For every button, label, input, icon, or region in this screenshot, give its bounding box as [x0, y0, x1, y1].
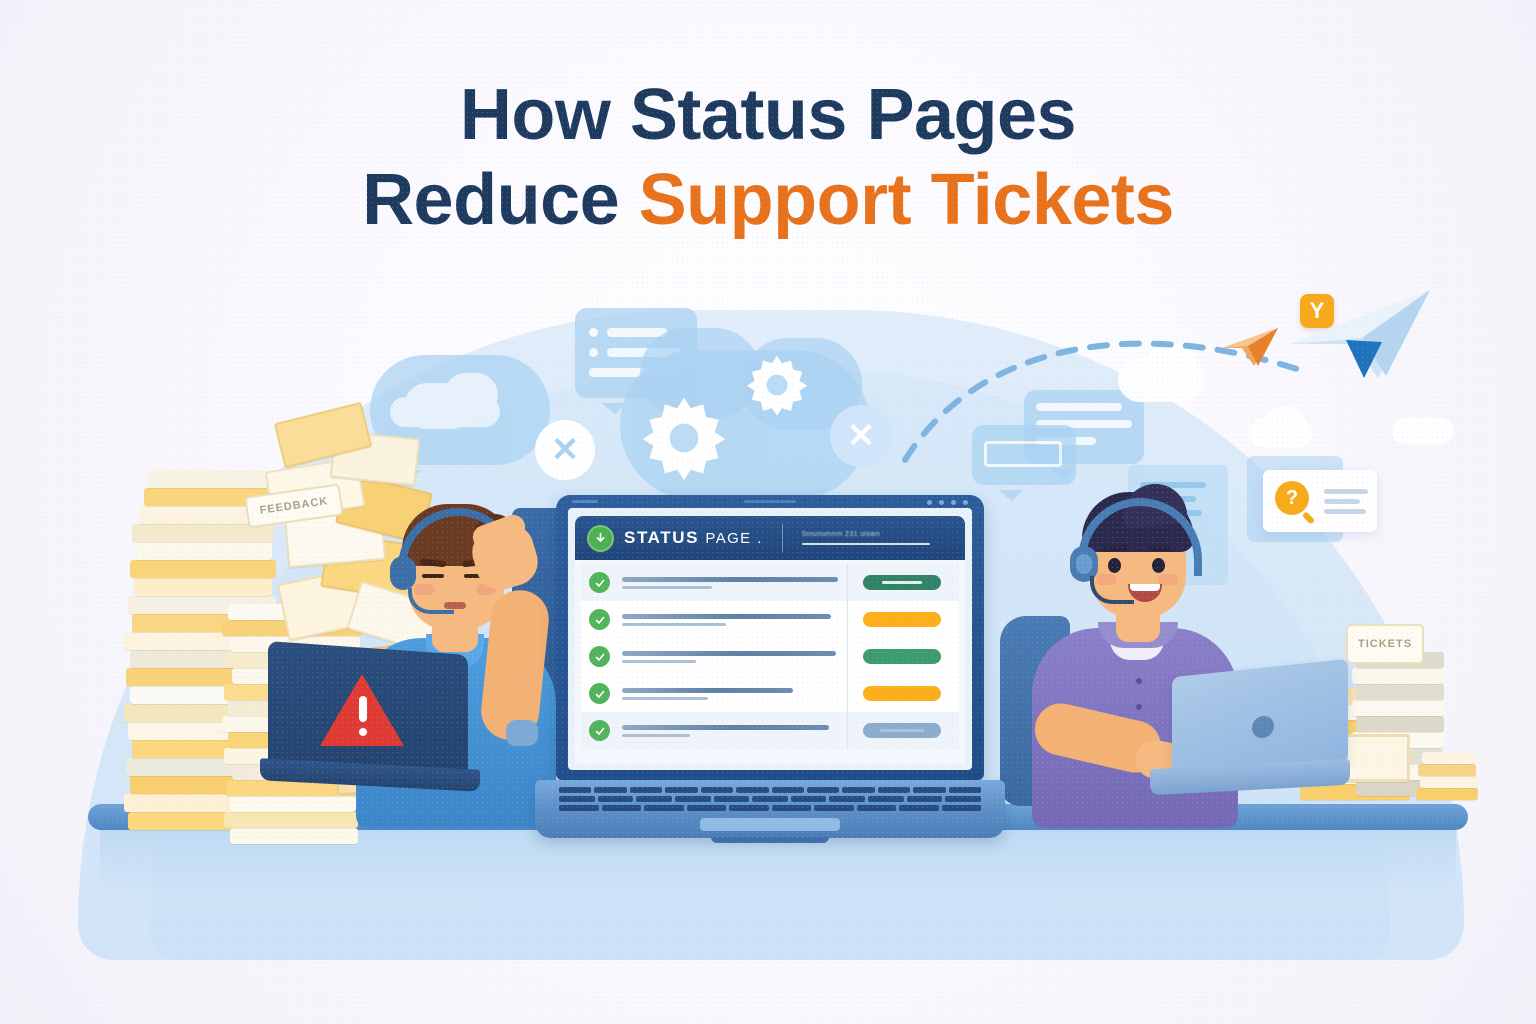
x-circle-icon: ✕: [535, 420, 595, 480]
paper-sheet: [230, 828, 358, 844]
ticket-stack-label: TICKETS: [1346, 624, 1424, 664]
keyboard-row: [559, 787, 981, 793]
key: [630, 787, 662, 793]
status-badge: [863, 612, 941, 627]
ticket-sheet: [1356, 716, 1444, 732]
row-line-secondary: [622, 697, 708, 700]
row-status-cell: [847, 564, 955, 601]
help-card-line: [1324, 509, 1366, 514]
key: [594, 787, 626, 793]
bezel-dot: [927, 500, 932, 505]
laptop-base: [535, 780, 1005, 838]
paper-plane-icon: [1278, 282, 1438, 392]
row-line-primary: [622, 614, 831, 619]
key: [945, 796, 981, 802]
status-page-meta-rule: [802, 543, 930, 545]
key: [701, 787, 733, 793]
status-page-title: STATUS PAGE .: [624, 528, 763, 548]
laptop-camera-strip: [744, 500, 796, 503]
check-glyph: [594, 577, 606, 589]
status-badge: [863, 723, 941, 738]
warning-exclamation: [359, 696, 367, 722]
key: [868, 796, 904, 802]
key: [807, 787, 839, 793]
status-page-laptop: STATUS PAGE . Sinunumnm 231 ulswn: [556, 495, 984, 838]
row-text-placeholder: [610, 725, 847, 737]
gear-icon: [636, 390, 732, 486]
page-title: How Status Pages Reduce Support Tickets: [0, 78, 1536, 237]
key: [842, 787, 874, 793]
ticket-sheet: [1356, 684, 1444, 700]
laptop-bezel-dash: [572, 500, 598, 503]
title-line-2-accent: Support Tickets: [639, 160, 1174, 240]
magnifier-question-icon: ?: [1275, 481, 1315, 521]
bezel-dot: [963, 500, 968, 505]
key: [736, 787, 768, 793]
status-badge: [863, 649, 941, 664]
laptop-bezel: [556, 495, 984, 508]
laptop-bezel-dots: [927, 500, 968, 505]
download-arrow-glyph: [593, 531, 608, 546]
paper-sheet: [230, 796, 356, 812]
laptop-screen: STATUS PAGE . Sinunumnm 231 ulswn: [568, 508, 972, 770]
key: [772, 805, 812, 811]
key: [598, 796, 634, 802]
row-status-cell: [847, 638, 955, 675]
key: [644, 805, 684, 811]
row-text-placeholder: [610, 577, 847, 589]
ticket-stack-label-text: TICKETS: [1358, 638, 1412, 650]
agent2-button: [1136, 678, 1142, 684]
header-divider: [782, 524, 783, 552]
check-circle-icon: [589, 683, 610, 704]
row-text-placeholder: [610, 614, 847, 626]
small-plane-icon: [1218, 322, 1288, 370]
key: [729, 805, 769, 811]
paper-sheet: [224, 812, 358, 828]
row-line-primary: [622, 577, 838, 582]
key: [913, 787, 945, 793]
key: [772, 787, 804, 793]
row-status-cell: [847, 675, 955, 712]
check-glyph: [594, 614, 606, 626]
illustration-canvas: How Status Pages Reduce Support Tickets …: [0, 0, 1536, 1024]
status-page-title-light: PAGE .: [705, 530, 762, 547]
status-page-header: STATUS PAGE . Sinunumnm 231 ulswn: [575, 516, 965, 560]
table-row[interactable]: [581, 564, 959, 601]
key: [829, 796, 865, 802]
status-page-meta: Sinunumnm 231 ulswn: [802, 531, 953, 545]
magnifier-lens: ?: [1275, 481, 1309, 515]
paper-sheet: [130, 560, 276, 578]
help-card-line: [1324, 499, 1360, 504]
paper-sheet: [136, 542, 272, 560]
table-row[interactable]: [581, 675, 959, 712]
laptop-lid: STATUS PAGE . Sinunumnm 231 ulswn: [556, 495, 984, 780]
row-text-placeholder: [610, 688, 847, 700]
row-status-cell: [847, 601, 955, 638]
paper-sheet: [134, 578, 272, 596]
agent2-teeth: [1130, 584, 1160, 591]
key: [857, 805, 897, 811]
stack-label-text: FEEDBACK: [259, 495, 329, 517]
status-page-rows: [575, 560, 965, 764]
ticket-sheet: [1422, 752, 1476, 764]
key: [814, 805, 854, 811]
key: [907, 796, 943, 802]
computer-mouse-top: [506, 720, 538, 746]
cloud-icon-white-3: [1392, 418, 1454, 444]
keyboard-row: [559, 796, 981, 802]
check-glyph: [594, 688, 606, 700]
magnifier-handle: [1302, 511, 1315, 524]
bullet-dot: [589, 328, 598, 337]
check-glyph: [594, 725, 606, 737]
ticket-sheet: [1418, 764, 1476, 776]
check-circle-icon: [589, 609, 610, 630]
ticket-sheet: [1352, 668, 1444, 684]
status-badge: [863, 686, 941, 701]
key: [675, 796, 711, 802]
keyboard-row: [559, 805, 981, 811]
key: [687, 805, 727, 811]
illustration-scene: ✕ ✕: [0, 250, 1536, 890]
laptop-keyboard[interactable]: [559, 787, 981, 813]
key: [791, 796, 827, 802]
key: [636, 796, 672, 802]
headset-earcup-inner: [1076, 554, 1092, 574]
ticket-sheet: [1416, 788, 1478, 800]
agent2-laptop: [1150, 668, 1350, 798]
warning-exclamation-dot: [359, 728, 367, 736]
key: [714, 796, 750, 802]
row-line-primary: [622, 725, 829, 730]
status-page-title-bold: STATUS: [624, 528, 699, 547]
table-row[interactable]: [581, 712, 959, 749]
alert-laptop: [268, 648, 480, 796]
status-page-meta-text: Sinunumnm 231 ulswn: [802, 531, 880, 538]
bezel-dot: [951, 500, 956, 505]
paper-sheet: [148, 470, 268, 488]
help-card-lines: [1324, 489, 1368, 514]
laptop-trackpad[interactable]: [700, 818, 840, 831]
row-line-secondary: [622, 586, 712, 589]
help-card-line: [1324, 489, 1368, 494]
title-line-2-plain: Reduce: [362, 160, 639, 240]
title-line-2: Reduce Support Tickets: [0, 163, 1536, 237]
row-line-secondary: [622, 660, 696, 663]
key: [559, 805, 599, 811]
status-badge: [863, 575, 941, 590]
key: [942, 805, 982, 811]
key: [752, 796, 788, 802]
row-line-secondary: [622, 734, 690, 737]
ticket-sheet: [1420, 776, 1478, 788]
key: [559, 787, 591, 793]
ticket-sheet: [1352, 700, 1444, 716]
row-line-primary: [622, 651, 836, 656]
gear-icon-small: [742, 350, 812, 420]
key: [949, 787, 981, 793]
key: [559, 796, 595, 802]
row-status-cell: [847, 712, 955, 749]
check-circle-icon: [589, 720, 610, 741]
check-glyph: [594, 651, 606, 663]
laptop-front-notch: [711, 837, 829, 843]
bezel-dot: [939, 500, 944, 505]
row-line-secondary: [622, 623, 726, 626]
row-line-primary: [622, 688, 793, 693]
key: [665, 787, 697, 793]
title-line-1: How Status Pages: [0, 78, 1536, 152]
check-circle-icon: [589, 646, 610, 667]
x-circle-icon-2: ✕: [830, 405, 892, 467]
headset-earcup: [390, 556, 416, 590]
key: [602, 805, 642, 811]
key: [878, 787, 910, 793]
agent2-button: [1136, 704, 1142, 710]
table-row[interactable]: [581, 638, 959, 675]
bullet-dot: [589, 348, 598, 357]
table-row[interactable]: [581, 601, 959, 638]
key: [899, 805, 939, 811]
download-circle-icon: [587, 525, 614, 552]
row-text-placeholder: [610, 651, 847, 663]
help-question-card: ?: [1263, 470, 1377, 532]
check-circle-icon: [589, 572, 610, 593]
